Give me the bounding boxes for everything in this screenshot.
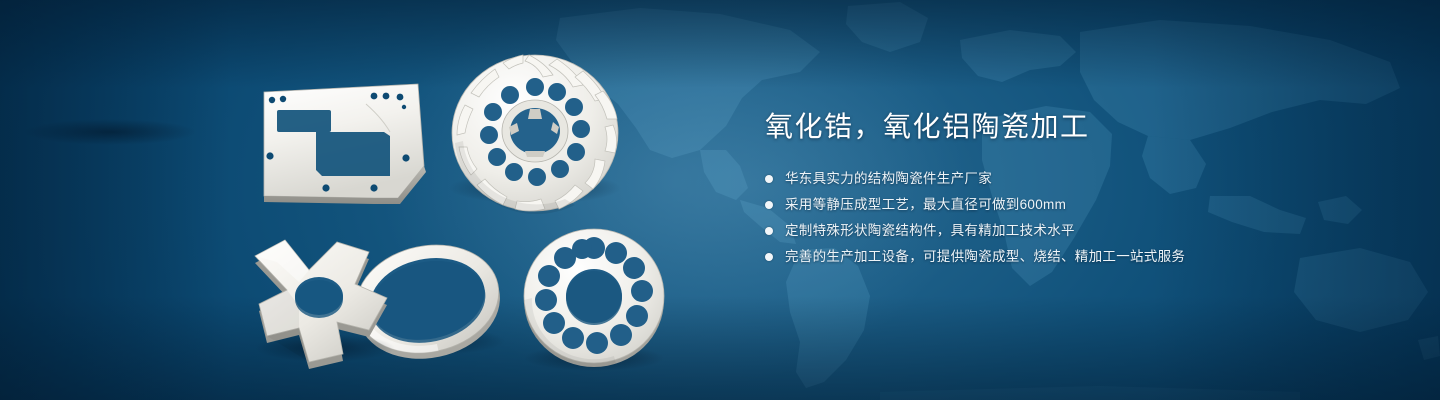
bullet-dot-icon	[765, 201, 773, 209]
promo-banner: 氧化锆，氧化铝陶瓷加工 华东具实力的结构陶瓷件生产厂家 采用等静压成型工艺，最大…	[0, 0, 1440, 400]
feature-list: 华东具实力的结构陶瓷件生产厂家 采用等静压成型工艺，最大直径可做到600mm 定…	[765, 168, 1385, 268]
bullet-dot-icon	[765, 175, 773, 183]
list-item: 完善的生产加工设备，可提供陶瓷成型、烧结、精加工一站式服务	[765, 246, 1385, 268]
ceramic-plate-part	[24, 84, 426, 204]
list-item-label: 定制特殊形状陶瓷结构件，具有精加工技术水平	[785, 220, 1075, 242]
list-item-label: 完善的生产加工设备，可提供陶瓷成型、烧结、精加工一站式服务	[785, 246, 1185, 268]
list-item: 采用等静压成型工艺，最大直径可做到600mm	[765, 194, 1385, 216]
ceramic-impeller-part	[449, 55, 621, 214]
list-item: 华东具实力的结构陶瓷件生产厂家	[765, 168, 1385, 190]
ceramic-cross-part	[255, 240, 395, 369]
product-photo-group	[0, 0, 720, 400]
banner-text-block: 氧化锆，氧化铝陶瓷加工 华东具实力的结构陶瓷件生产厂家 采用等静压成型工艺，最大…	[765, 108, 1385, 272]
bullet-dot-icon	[765, 253, 773, 261]
ceramic-perforated-disc-part	[524, 229, 664, 371]
bullet-dot-icon	[765, 227, 773, 235]
list-item-label: 华东具实力的结构陶瓷件生产厂家	[785, 168, 992, 190]
page-title: 氧化锆，氧化铝陶瓷加工	[765, 108, 1385, 146]
list-item-label: 采用等静压成型工艺，最大直径可做到600mm	[785, 194, 1066, 216]
list-item: 定制特殊形状陶瓷结构件，具有精加工技术水平	[765, 220, 1385, 242]
